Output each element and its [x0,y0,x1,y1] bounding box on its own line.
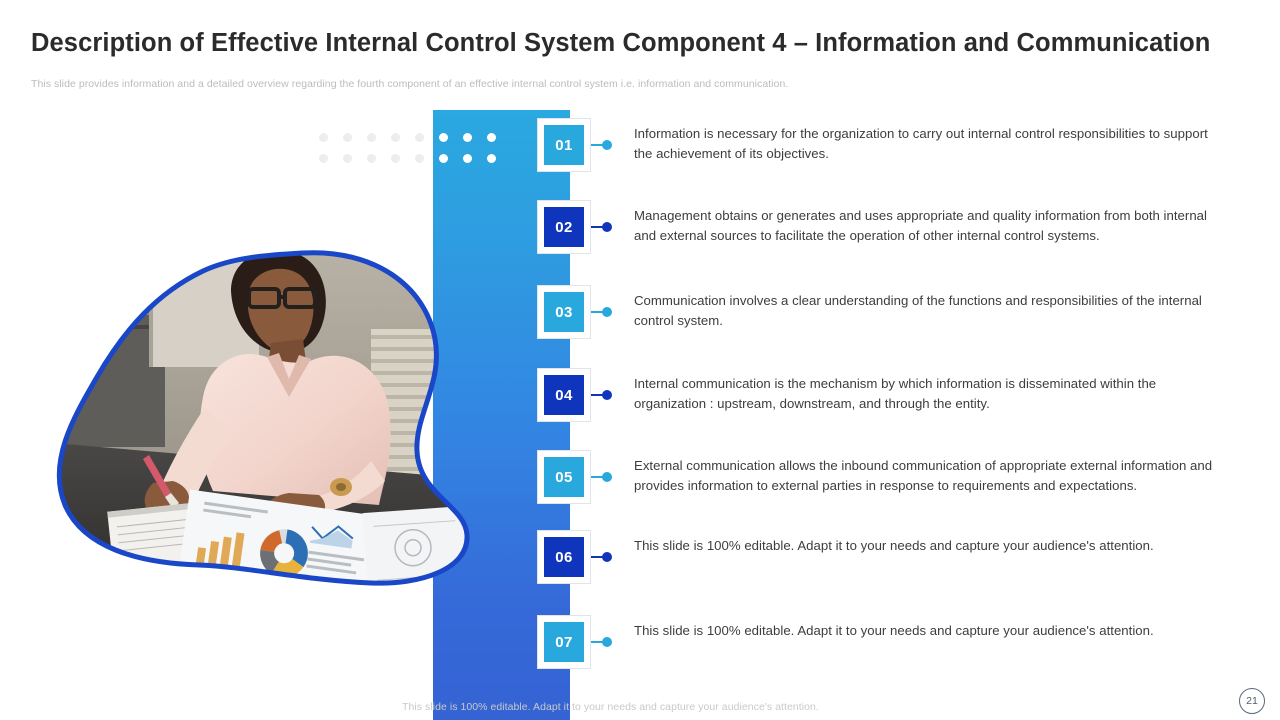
page-title: Description of Effective Internal Contro… [31,29,1241,58]
number-badge: 06 [544,537,584,577]
connector-bullet-icon [602,472,612,482]
number-badge-frame[interactable]: 05 [537,450,591,504]
footer-note: This slide is 100% editable. Adapt it to… [402,701,819,713]
number-badge: 03 [544,292,584,332]
number-badge: 02 [544,207,584,247]
connector [591,556,611,558]
page-number-badge: 21 [1239,688,1265,714]
list-item[interactable]: 04Internal communication is the mechanis… [0,368,1280,428]
list-item-text: Management obtains or generates and uses… [634,206,1224,245]
slide-canvas: Description of Effective Internal Contro… [0,0,1280,720]
list-item[interactable]: 07This slide is 100% editable. Adapt it … [0,615,1280,675]
number-badge: 05 [544,457,584,497]
list-item-text: This slide is 100% editable. Adapt it to… [634,621,1214,641]
connector-bullet-icon [602,307,612,317]
connector [591,394,611,396]
list-item[interactable]: 03Communication involves a clear underst… [0,285,1280,345]
list-item[interactable]: 06This slide is 100% editable. Adapt it … [0,530,1280,590]
connector [591,144,611,146]
number-badge-frame[interactable]: 07 [537,615,591,669]
number-badge: 01 [544,125,584,165]
list-item-text: Information is necessary for the organiz… [634,124,1214,163]
connector-bullet-icon [602,637,612,647]
connector [591,226,611,228]
number-badge: 07 [544,622,584,662]
page-subtitle: This slide provides information and a de… [31,78,1181,90]
list-item[interactable]: 02Management obtains or generates and us… [0,200,1280,260]
list-item[interactable]: 01Information is necessary for the organ… [0,118,1280,178]
list-item-text: Internal communication is the mechanism … [634,374,1214,413]
number-badge-frame[interactable]: 01 [537,118,591,172]
number-badge-frame[interactable]: 03 [537,285,591,339]
list-item-text: This slide is 100% editable. Adapt it to… [634,536,1214,556]
connector-bullet-icon [602,552,612,562]
connector [591,641,611,643]
connector [591,311,611,313]
connector-bullet-icon [602,222,612,232]
list-item-text: External communication allows the inboun… [634,456,1252,495]
number-badge: 04 [544,375,584,415]
number-badge-frame[interactable]: 06 [537,530,591,584]
list-item-text: Communication involves a clear understan… [634,291,1214,330]
connector-bullet-icon [602,390,612,400]
connector [591,476,611,478]
number-badge-frame[interactable]: 04 [537,368,591,422]
list-item[interactable]: 05External communication allows the inbo… [0,450,1280,510]
number-badge-frame[interactable]: 02 [537,200,591,254]
connector-bullet-icon [602,140,612,150]
